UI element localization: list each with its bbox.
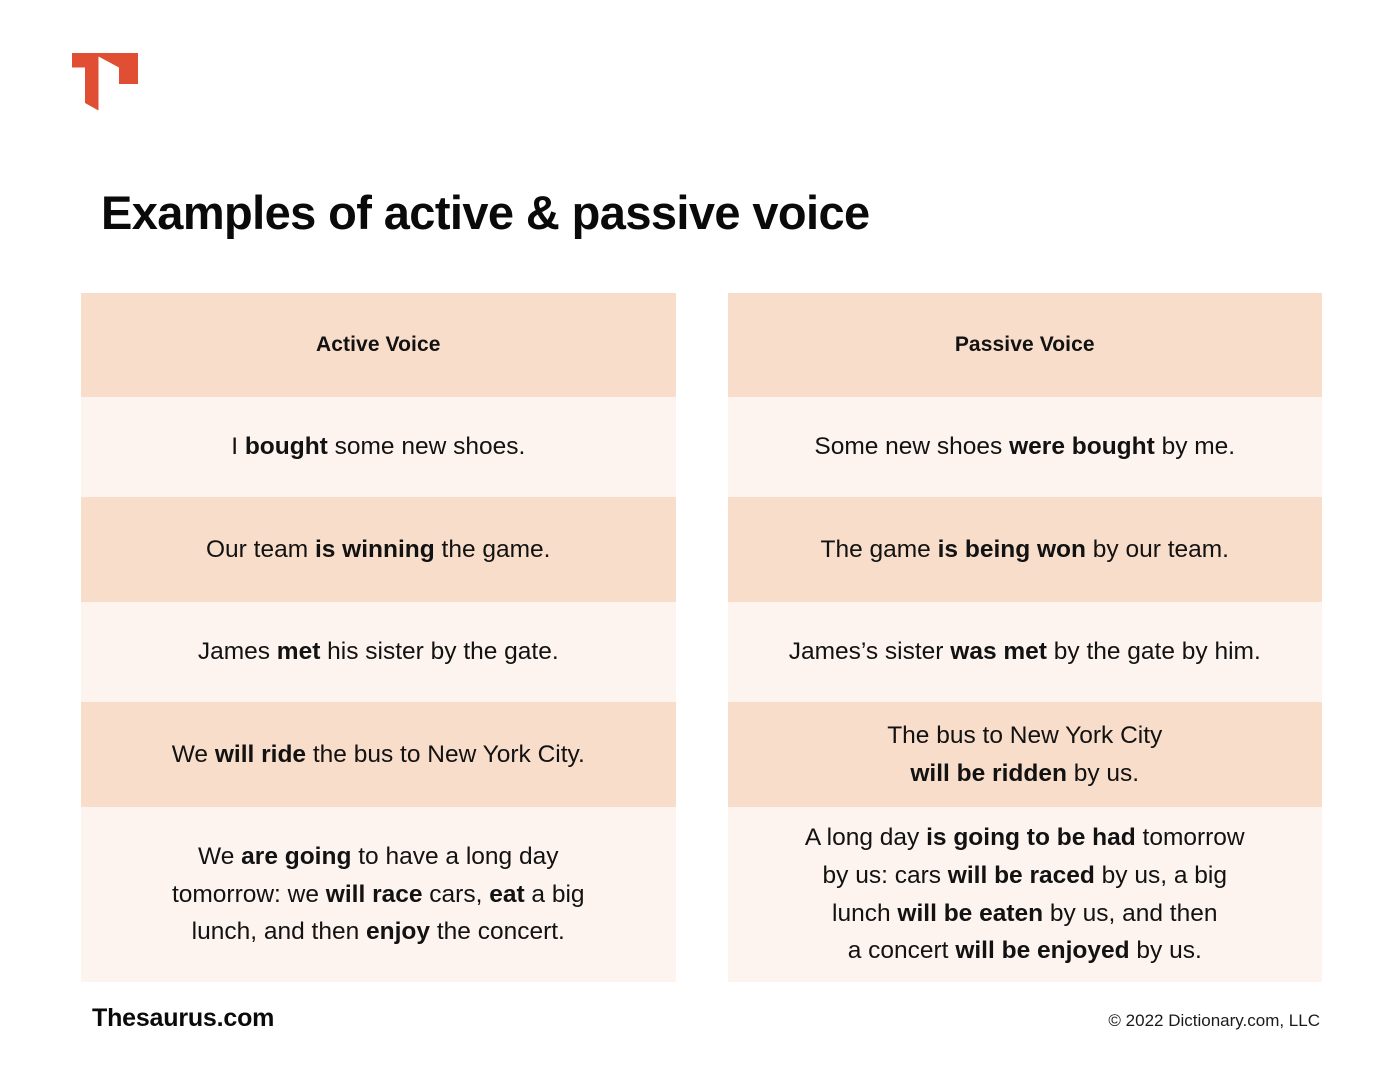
passive-voice-text: Some new shoes were bought by me. — [754, 428, 1297, 466]
column-header-passive-voice: Passive Voice — [728, 293, 1323, 397]
passive-voice-text: The game is being won by our team. — [754, 531, 1297, 569]
column-divider — [676, 602, 728, 702]
passive-voice-cell: Some new shoes were bought by me. — [728, 397, 1323, 497]
passive-voice-cell: A long day is going to be had tomorrowby… — [728, 807, 1323, 982]
active-voice-cell: We are going to have a long daytomorrow:… — [81, 807, 676, 982]
passive-voice-cell: The game is being won by our team. — [728, 497, 1323, 602]
table-row: We will ride the bus to New York City. T… — [81, 702, 1322, 807]
passive-voice-cell: James’s sister was met by the gate by hi… — [728, 602, 1323, 702]
thesaurus-logo — [72, 53, 138, 111]
table-row: Our team is winning the game. The game i… — [81, 497, 1322, 602]
active-voice-cell: James met his sister by the gate. — [81, 602, 676, 702]
column-divider — [676, 293, 728, 397]
active-passive-voice-table: Active Voice Passive Voice I bought some… — [81, 293, 1322, 982]
thesaurus-t-logo-icon — [72, 53, 138, 111]
column-header-active-voice: Active Voice — [81, 293, 676, 397]
active-voice-text: I bought some new shoes. — [107, 428, 650, 466]
active-voice-cell: We will ride the bus to New York City. — [81, 702, 676, 807]
footer-copyright: © 2022 Dictionary.com, LLC — [1108, 1011, 1320, 1031]
active-voice-text: We will ride the bus to New York City. — [107, 736, 650, 774]
column-divider — [676, 807, 728, 982]
table-row: I bought some new shoes. Some new shoes … — [81, 397, 1322, 497]
active-voice-text: Our team is winning the game. — [107, 531, 650, 569]
passive-voice-text: A long day is going to be had tomorrowby… — [754, 819, 1297, 971]
active-voice-cell: Our team is winning the game. — [81, 497, 676, 602]
active-voice-cell: I bought some new shoes. — [81, 397, 676, 497]
table-header-row: Active Voice Passive Voice — [81, 293, 1322, 397]
page-title: Examples of active & passive voice — [101, 185, 870, 241]
passive-voice-text: James’s sister was met by the gate by hi… — [754, 633, 1297, 671]
table-row: James met his sister by the gate. James’… — [81, 602, 1322, 702]
footer-brand: Thesaurus.com — [92, 1004, 274, 1033]
table-row: We are going to have a long daytomorrow:… — [81, 807, 1322, 982]
active-voice-text: We are going to have a long daytomorrow:… — [107, 838, 650, 952]
column-divider — [676, 397, 728, 497]
active-voice-text: James met his sister by the gate. — [107, 633, 650, 671]
passive-voice-cell: The bus to New York Citywill be ridden b… — [728, 702, 1323, 807]
column-divider — [676, 702, 728, 807]
column-divider — [676, 497, 728, 602]
passive-voice-text: The bus to New York Citywill be ridden b… — [754, 717, 1297, 793]
